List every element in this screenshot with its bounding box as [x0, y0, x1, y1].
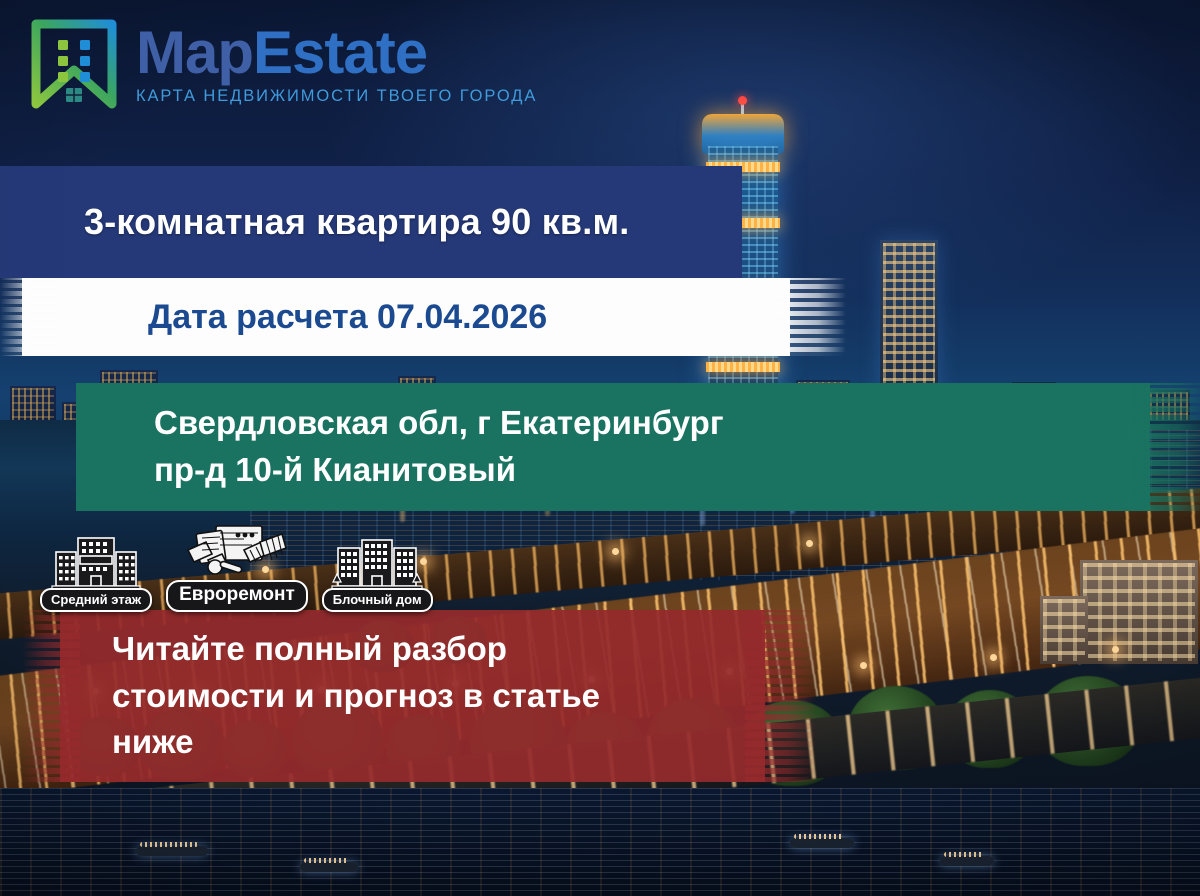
- mid-floor-building-icon: [50, 532, 142, 594]
- cta-line-1: Читайте полный разбор: [60, 626, 765, 673]
- bookmark-building-icon: [28, 18, 120, 110]
- cta-line-2: стоимости и прогноз в статье: [60, 673, 765, 720]
- cta-band: Читайте полный разбор стоимости и прогно…: [60, 610, 765, 782]
- badge-label-euro-renovation: Евроремонт: [166, 580, 308, 612]
- badge-label-block-house: Блочный дом: [322, 588, 433, 612]
- badge-mid-floor[interactable]: Средний этаж: [40, 532, 152, 612]
- logo-tagline: КАРТА НЕДВИЖИМОСТИ ТВОЕГО ГОРОДА: [136, 88, 537, 105]
- title-band: 3-комнатная квартира 90 кв.м.: [0, 166, 742, 278]
- real-estate-banner: MapEstate КАРТА НЕДВИЖИМОСТИ ТВОЕГО ГОРО…: [0, 0, 1200, 896]
- badge-euro-renovation[interactable]: Евроремонт: [166, 520, 308, 612]
- badge-block-house[interactable]: Блочный дом: [322, 532, 433, 612]
- property-title: 3-комнатная квартира 90 кв.м.: [0, 201, 742, 243]
- logo-word-map: Map: [136, 19, 253, 86]
- calc-date-band: Дата расчета 07.04.2026: [22, 278, 790, 356]
- address-line-2: пр-д 10-й Кианитовый: [76, 447, 1150, 494]
- block-house-icon: [331, 532, 423, 594]
- logo-word-estate: Estate: [253, 19, 427, 86]
- cta-line-3: ниже: [60, 719, 765, 766]
- renovation-tools-icon: [182, 520, 292, 586]
- badge-label-mid-floor: Средний этаж: [40, 588, 152, 612]
- property-feature-badges: Средний этаж: [40, 520, 433, 612]
- address-line-1: Свердловская обл, г Екатеринбург: [76, 400, 1150, 447]
- calculation-date: Дата расчета 07.04.2026: [22, 298, 790, 337]
- address-band: Свердловская обл, г Екатеринбург пр-д 10…: [76, 383, 1150, 511]
- brand-logo[interactable]: MapEstate КАРТА НЕДВИЖИМОСТИ ТВОЕГО ГОРО…: [28, 18, 537, 110]
